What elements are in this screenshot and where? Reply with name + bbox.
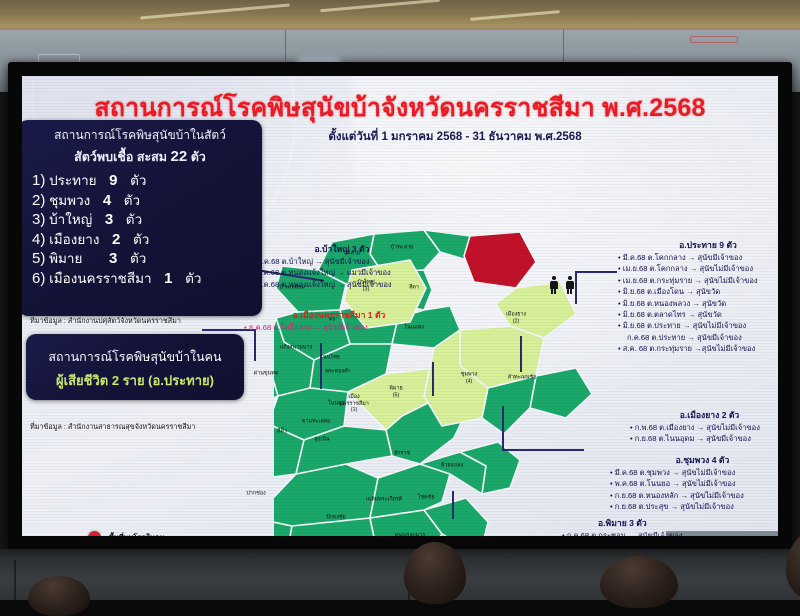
ceiling-light-streak [140,3,290,19]
callout-item: • มิ.ย.68 ต.เมืองโดน → สุนัขวัด [618,286,778,297]
map-label-district: ลำทะเมนชัย [508,375,537,382]
callout-prathai: อ.ประทาย 9 ตัว • มี.ค.68 ต.โคกกลาง → สุน… [618,238,778,355]
callout-item: • ธ.ค.68 ต.โพธิ์กลาง → สุนัขมีเจ้าของ [244,322,434,333]
audience-head [28,576,90,616]
date-range-subtitle: ตั้งแต่วันที่ 1 มกราคม 2568 - 31 ธันวาคม… [290,128,620,146]
animal-panel-heading: สถานการณ์โรคพิษสุนัขบ้าในสัตว์ [22,120,262,145]
map-label-district: ห้วยแถลง [441,463,463,470]
ceiling-light-streak [470,10,560,21]
human-panel-detail: ผู้เสียชีวิต 2 ราย (อ.ประทาย) [26,370,244,391]
callout-item: • ส.ค.68 ต.หนองแจ้งใหญ่ → แมวมีเจ้าของ [252,267,432,278]
callout-heading: อ.พิมาย 3 ตัว [562,516,752,530]
animal-panel-source: ที่มาข้อมูล : สำนักงานปศุสัตว์จังหวัดนคร… [30,316,181,327]
map-label-phimai: พิมาย(5) [389,385,402,398]
animal-panel-subheading: สัตว์พบเชื้อ สะสม 22 ตัว [22,145,262,167]
map-label-district: ปักธงชัย [326,515,345,522]
callout-heading: อ.ชุมพวง 4 ตัว [610,453,778,467]
human-situation-panel: สถานการณ์โรคพิษสุนัขบ้าในคน ผู้เสียชีวิต… [26,334,244,400]
callout-item: • มี.ค.68 ต.โคกกลาง → สุนัขมีเจ้าของ [618,252,778,263]
callout-item: • ก.พ.68 ต.เมืองยาง → สุนัขไม่มีเจ้าของ [622,422,778,433]
human-panel-heading: สถานการณ์โรคพิษสุนัขบ้าในคน [26,334,244,367]
map-label-chumphuang: ชุมพวง(4) [461,371,477,384]
list-item: 2) ชุมพวง 4 ตัว [32,191,262,211]
map-label-district: ขามทะเลสอ [302,419,330,426]
callout-heading: อ.ประทาย 9 ตัว [618,238,778,252]
list-item: 3) บ้าใหญ่ 3 ตัว [32,210,262,230]
leader-line [575,272,577,304]
callout-item: • ส.ค.68 ต.หนองแจ้งใหญ่ → สุนัขมีเจ้าของ [252,279,432,290]
red-circle-icon [88,531,101,536]
leader-line [502,406,504,450]
callout-chumphuang: อ.ชุมพวง 4 ตัว • มี.ค.68 ต.ชุมพวง → สุนั… [610,453,778,513]
map-label-district: โนนไทย [320,355,340,362]
district-shape-prathai [464,232,536,288]
animal-situation-panel: สถานการณ์โรคพิษสุนัขบ้าในสัตว์ สัตว์พบเช… [22,120,262,316]
callout-item: • มิ.ย.68 ต.หนองพลวง → สุนัขวัด [618,298,778,309]
legend-item: พื้นที่พบโรคในคน [88,528,200,536]
map-label-mueangyang: เมืองยาง(2) [506,311,526,324]
callout-item: • มี.ค.68 ต.ชุมพวง → สุนัขไม่มีเจ้าของ [610,467,778,478]
map-label-district: โชคชัย [418,495,435,502]
callout-item: • มิ.ย.68 ต.ตลาดไทร → สุนัขวัด [618,309,778,320]
audience-head [600,556,678,608]
list-item: 4) เมืองยาง 2 ตัว [32,230,262,250]
callout-phimai: อ.พิมาย 3 ตัว • ก.ค.68 ต.กระชอน → สุนัขม… [562,516,752,536]
callout-item: • พ.ค.68 ต.โนนยอ → สุนัขไม่มีเจ้าของ [610,478,778,489]
death-figure-icon [549,276,558,294]
leader-line [452,491,454,519]
status-indicator-strip [690,36,738,43]
map-label-district: จักราช [394,451,410,458]
callout-paiyai: อ.บ้าใหญ่ 3 ตัว • มี.ค.68 ต.บ้าใหญ่ → สุ… [252,242,432,290]
callout-mueang-yang: อ.เมืองยาง 2 ตัว • ก.พ.68 ต.เมืองยาง → ส… [622,408,778,445]
presentation-screen: สถานการณ์โรคพิษสุนัขบ้าจังหวัดนครราชสีมา… [22,76,778,536]
map-label-district: พระทองคำ [325,369,350,376]
leader-line [520,336,522,372]
callout-item: • ก.ย.68 ต.ไนนอุดม → สุนัขมีเจ้าของ [622,433,778,444]
district-shape [530,368,592,418]
callout-item: • ก.ย.68 ต.หนองหลัก → สุนัขไม่มีเจ้าของ [610,490,778,501]
callout-item: • เม.ย.68 ต.โคกกลาง → สุนัขไม่มีเจ้าของ [618,263,778,274]
map-label-district: เฉลิมพระเกียรติ [366,497,402,504]
lower-wall [0,549,800,600]
callout-item: • ก.ย.68 ต.ประสุข → สุนัขไม่มีเจ้าของ [610,501,778,512]
audience-head [404,542,466,604]
callout-mueang-korat: อ.เมืองนครราชสีมา 1 ตัว • ธ.ค.68 ต.โพธิ์… [244,308,434,333]
leader-line [320,343,322,389]
callout-item: • มี.ค.68 ต.บ้าใหญ่ → สุนัขมีเจ้าของ [252,256,432,267]
wall-seam [14,560,16,600]
map-label-district: สีคิ้ว [277,429,287,436]
list-item: 5) พิมาย 3 ตัว [32,249,262,269]
leader-line [254,331,256,361]
map-label-prathai: ประทาย(9) [433,287,452,300]
room-background: สถานการณ์โรคพิษสุนัขบ้าจังหวัดนครราชสีมา… [0,0,800,600]
death-figure-icon [565,276,574,294]
map-label-district: โนนสูง [328,401,344,408]
callout-item: • มิ.ย.68 ต.ประทาย → สุนัขไม่มีเจ้าของ [618,320,778,331]
callout-heading: อ.เมืองนครราชสีมา 1 ตัว [244,308,434,322]
callout-heading: อ.เมืองยาง 2 ตัว [622,408,778,422]
human-panel-source: ที่มาข้อมูล : สำนักงานสาธารณสุขจังหวัดนค… [30,422,195,433]
animal-district-list: 1) ประทาย 9 ตัว 2) ชุมพวง 4 ตัว 3) บ้าให… [22,171,262,288]
list-item: 6) เมืองนครราชสีมา 1 ตัว [32,269,262,289]
map-legend: พื้นที่พบโรคในคน พื้นที่พบโรคในสัตว์ พื้… [88,528,200,536]
leader-line [575,271,617,273]
callout-item: • ส.ค. 68 ต.กระทุ่มราย →สุนัขไม่มีเจ้าขอ… [618,343,778,354]
map-label-district: แก้งสนามนาง [280,345,312,352]
callout-item: ก.ค.68 ต.ประทาย → สุนัขมีเจ้าของ [618,332,778,343]
map-label-district: ด่านขุนทด [254,371,279,378]
map-label-district: ปากช่อง [246,491,265,498]
leader-line [502,449,584,451]
callout-heading: อ.บ้าใหญ่ 3 ตัว [252,242,432,256]
ceiling-light-streak [320,0,440,12]
legend-label: พื้นที่พบโรคในคน [109,532,165,537]
leader-line [432,362,434,396]
map-label-district: หนองบุญมาก [395,533,426,536]
callout-item: • ก.ค.68 ต.กระชอน → สุนัขมีเจ้าของ [562,530,752,536]
callout-item: • เม.ย.68 ต.กระทุ่มราย → สุนัขไม่มีเจ้าข… [618,275,778,286]
map-label-district: สูงเนิน [314,437,329,444]
list-item: 1) ประทาย 9 ตัว [32,171,262,191]
